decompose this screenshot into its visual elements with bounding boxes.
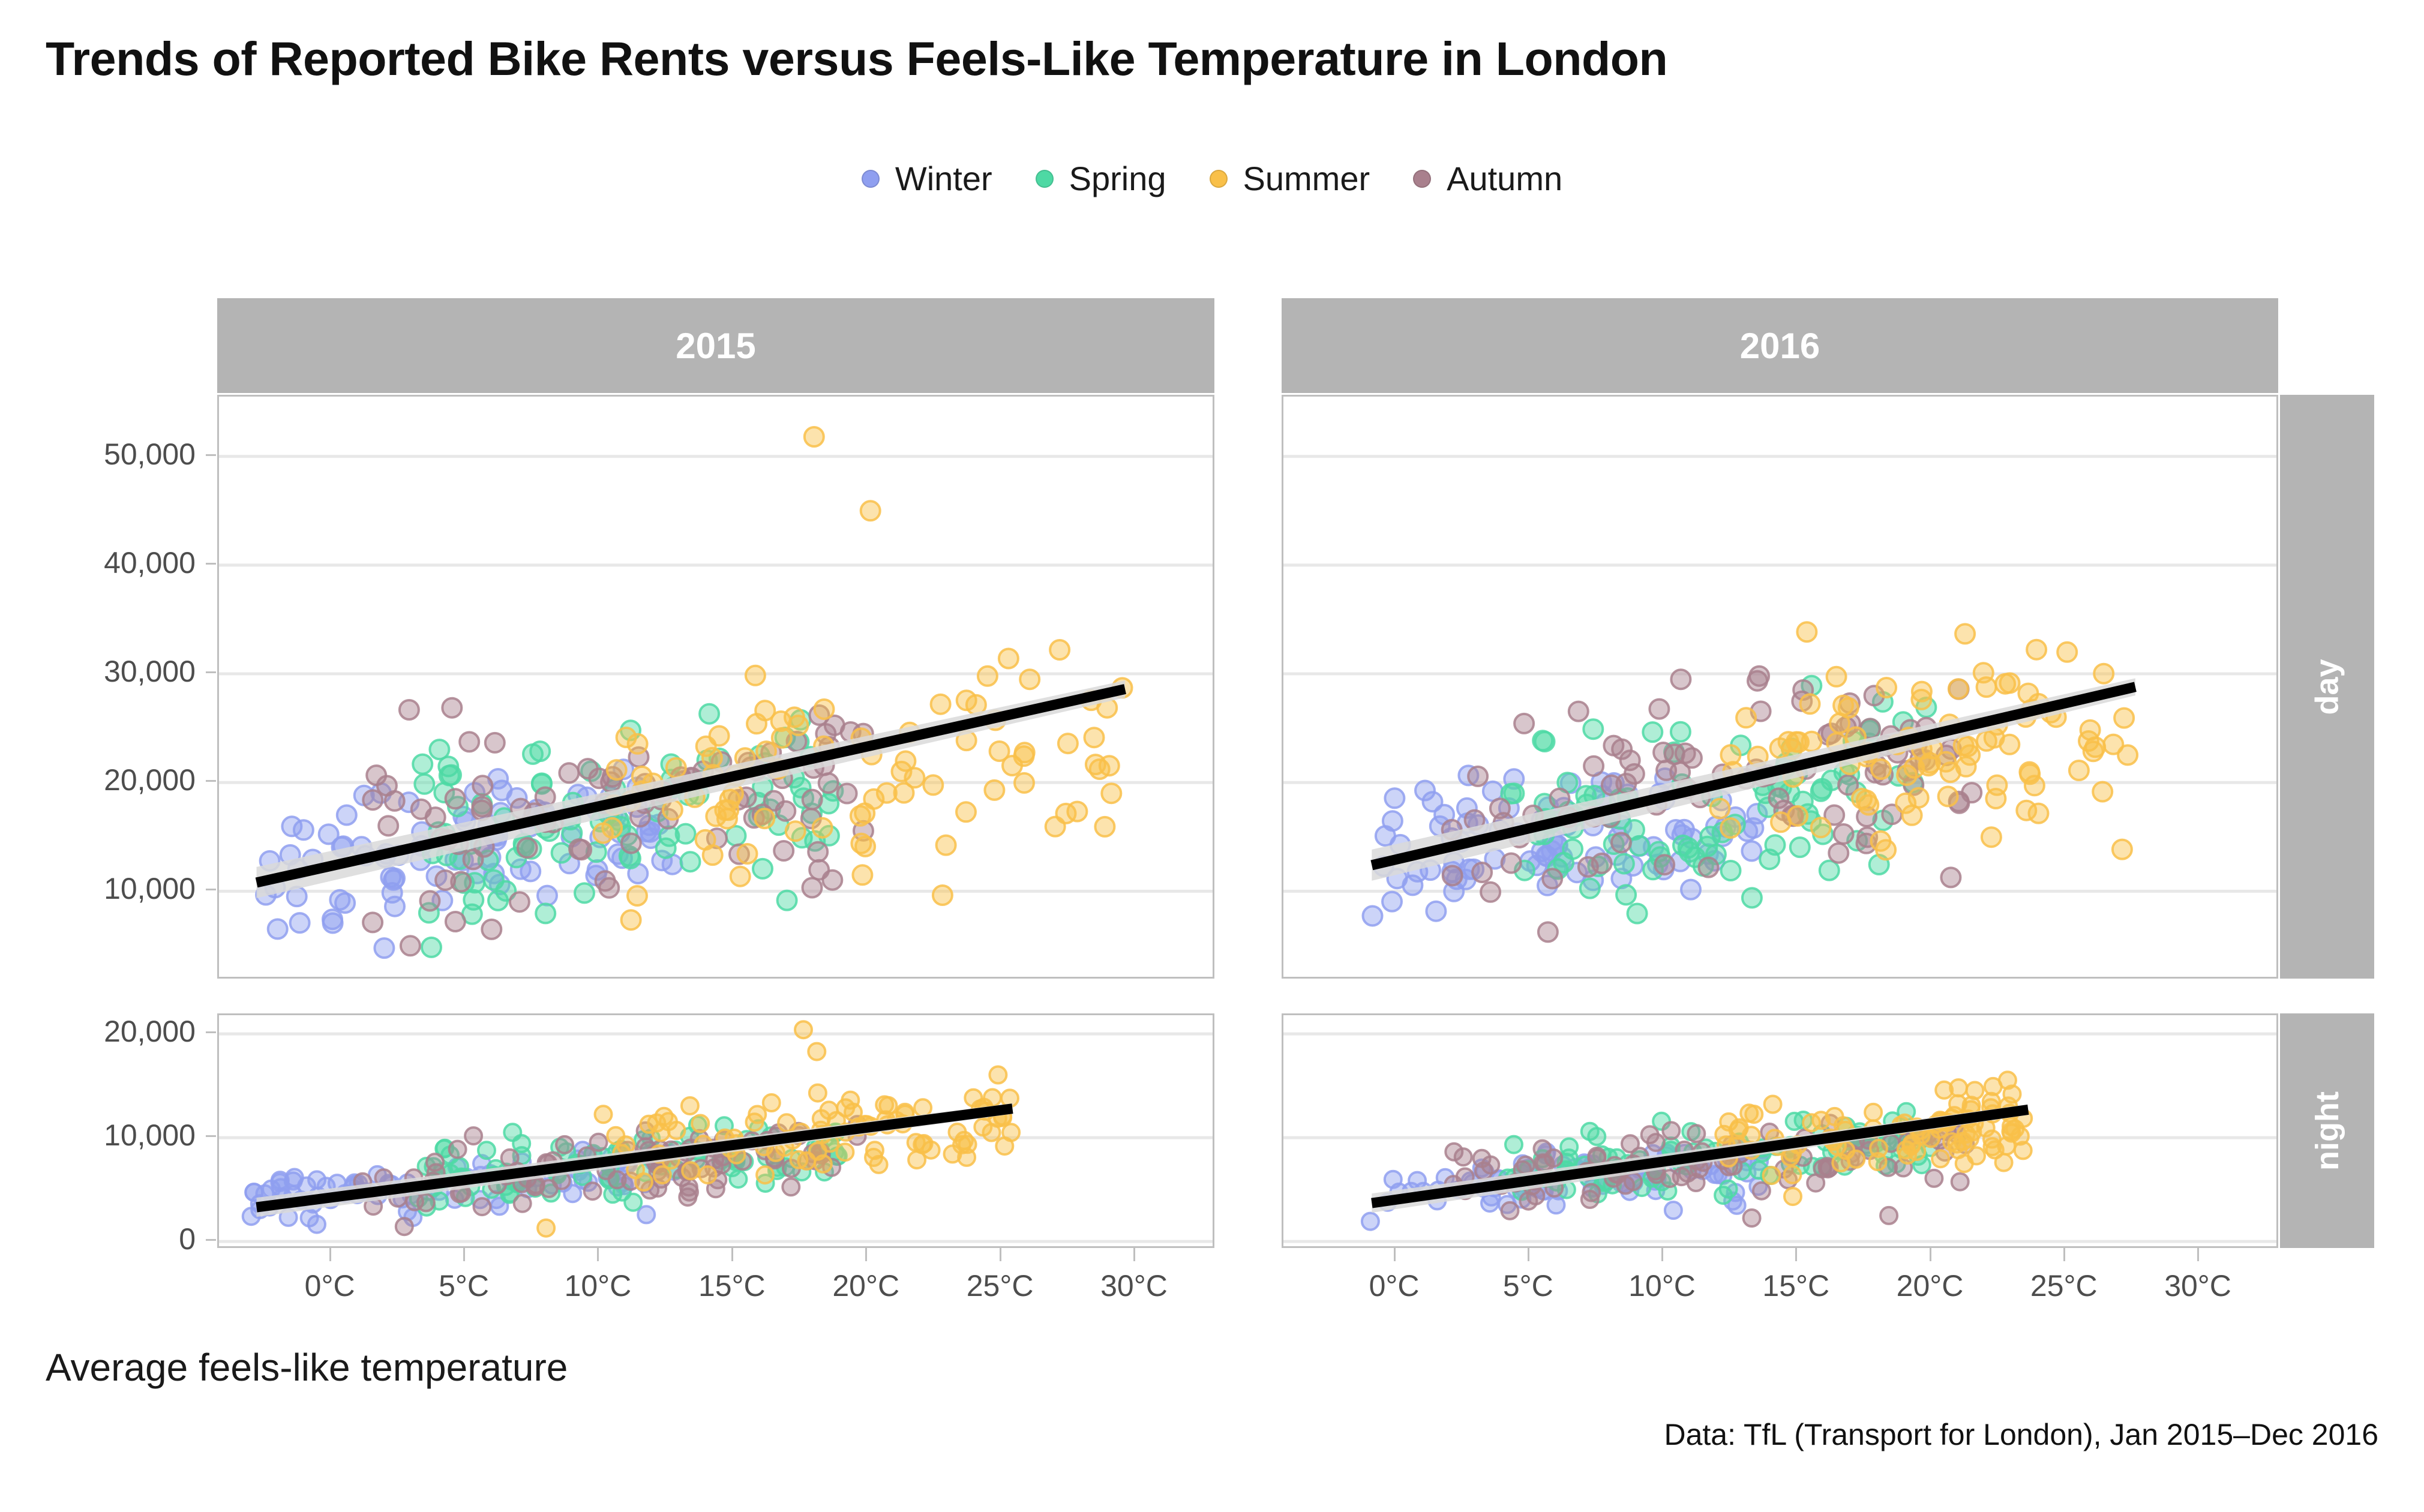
facet-strip-label-2016: 2016 (1740, 325, 1820, 367)
scatter-point (308, 1216, 325, 1233)
y-axis-tick-mark (206, 563, 216, 565)
scatter-point (628, 734, 647, 754)
scatter-point (1771, 812, 1790, 832)
scatter-point (514, 1195, 531, 1212)
scatter-point (1661, 1170, 1678, 1187)
scatter-point (809, 1085, 826, 1102)
scatter-point (2002, 1123, 2019, 1140)
scatter-point (1801, 694, 1820, 713)
scatter-point (1897, 766, 1916, 785)
scatter-point (1533, 731, 1552, 750)
scatter-point (1936, 752, 1955, 772)
y-axis-tick-label: 20,000 (0, 763, 196, 797)
scatter-point (896, 752, 915, 771)
scatter-point (1443, 866, 1462, 885)
scatter-point (1880, 1207, 1897, 1224)
scatter-point (808, 1043, 825, 1060)
scatter-point (1382, 892, 1402, 911)
x-axis-title: Average feels-like temperature (46, 1345, 568, 1390)
scatter-point (718, 809, 737, 829)
y-axis-tick-label: 10,000 (0, 1118, 196, 1153)
scatter-point (1859, 796, 1878, 815)
scatter-point (692, 1115, 709, 1132)
scatter-point (2114, 709, 2134, 728)
scatter-point (465, 1127, 482, 1144)
scatter-point (1827, 667, 1846, 686)
scatter-point (721, 790, 740, 809)
scatter-point (985, 781, 1004, 800)
scatter-point (421, 892, 440, 911)
scatter-point (485, 733, 505, 752)
scatter-point (1665, 1202, 1682, 1219)
scatter-point (1085, 728, 1104, 747)
scatter-point (590, 1134, 607, 1151)
scatter-point (427, 1154, 443, 1171)
scatter-point (700, 1166, 716, 1183)
scatter-point (1766, 835, 1785, 854)
y-axis-tick-label: 20,000 (0, 1014, 196, 1049)
scatter-point (1698, 837, 1717, 856)
scatter-point (956, 802, 976, 821)
scatter-point (1592, 854, 1612, 873)
scatter-point (778, 891, 797, 910)
scatter-point (747, 714, 766, 733)
scatter-point (1020, 670, 1039, 689)
x-axis-tick-mark (1000, 1248, 1001, 1261)
scatter-point (1383, 811, 1402, 830)
scatter-point (484, 871, 503, 890)
scatter-point (1502, 1202, 1519, 1219)
scatter-point (1742, 841, 1761, 860)
scatter-point (1765, 1096, 1781, 1113)
scatter-point (1671, 722, 1690, 742)
scatter-point (1876, 840, 1895, 859)
scatter-point (933, 886, 952, 905)
x-axis-tick-mark (865, 1248, 867, 1261)
scatter-point (1922, 1130, 1939, 1147)
x-axis-tick-mark (463, 1248, 465, 1261)
scatter-point (1688, 1125, 1705, 1142)
scatter-point (1621, 751, 1640, 770)
scatter-point (290, 913, 310, 932)
scatter-point (1721, 861, 1741, 880)
y-axis-tick-mark (206, 889, 216, 890)
scatter-point (790, 1151, 807, 1168)
scatter-svg (1283, 1015, 2278, 1248)
scatter-point (774, 841, 793, 860)
scatter-point (999, 649, 1018, 668)
scatter-point (1615, 854, 1634, 874)
scatter-point (1505, 1136, 1522, 1153)
scatter-point (589, 769, 608, 788)
scatter-point (1952, 1174, 1969, 1190)
scatter-point (819, 773, 838, 793)
scatter-point (510, 892, 529, 911)
facet-strip-2015: 2015 (217, 298, 1214, 393)
scatter-point (1699, 858, 1718, 877)
facet-strip-label-night: night (2308, 1091, 2345, 1171)
y-axis-tick-label: 0 (0, 1222, 196, 1256)
scatter-point (809, 860, 829, 880)
scatter-point (731, 867, 750, 886)
scatter-point (379, 816, 398, 835)
scatter-point (1688, 1174, 1705, 1191)
scatter-point (803, 878, 822, 898)
y-axis-tick-label: 40,000 (0, 545, 196, 580)
scatter-point (1941, 868, 1960, 887)
scatter-point (778, 1114, 795, 1131)
scatter-point (838, 784, 857, 803)
chart-caption: Data: TfL (Transport for London), Jan 20… (1664, 1417, 2378, 1452)
scatter-point (1616, 885, 1636, 904)
scatter-point (1898, 1141, 1915, 1158)
scatter-point (803, 790, 822, 809)
scatter-point (1715, 1187, 1732, 1204)
scatter-point (1102, 784, 1121, 803)
plot-area: 2015 2016 day night 10,00020,00030,00040… (0, 0, 2424, 1512)
scatter-point (473, 797, 492, 817)
scatter-point (1561, 1139, 1577, 1156)
scatter-point (572, 840, 591, 859)
scatter-point (1710, 799, 1729, 818)
x-axis-tick-label: 30°C (1068, 1268, 1200, 1303)
scatter-point (538, 886, 557, 905)
scatter-point (268, 919, 287, 938)
scatter-point (2027, 640, 2046, 659)
scatter-point (656, 839, 676, 858)
x-axis-tick-mark (1930, 1248, 1931, 1261)
scatter-point (482, 920, 501, 939)
facet-strip-night: night (2280, 1013, 2374, 1248)
scatter-point (895, 784, 914, 803)
scatter-point (385, 869, 404, 888)
scatter-point (446, 912, 465, 931)
x-axis-tick-mark (1133, 1248, 1135, 1261)
scatter-point (1807, 1175, 1824, 1192)
y-axis-tick-label: 30,000 (0, 654, 196, 689)
scatter-point (1015, 773, 1034, 793)
scatter-point (1769, 788, 1789, 808)
scatter-point (1455, 1148, 1472, 1165)
scatter-point (851, 834, 871, 853)
scatter-point (851, 806, 870, 826)
scatter-point (1582, 1123, 1598, 1140)
facet-strip-day: day (2280, 395, 2374, 979)
scatter-point (1834, 696, 1853, 715)
scatter-point (1580, 879, 1600, 898)
y-axis-tick-mark (206, 671, 216, 673)
scatter-point (518, 838, 537, 857)
chart-root: Trends of Reported Bike Rents versus Fee… (0, 0, 2424, 1512)
scatter-point (449, 1141, 466, 1158)
x-axis-tick-label: 0°C (1328, 1268, 1460, 1303)
scatter-point (805, 427, 824, 446)
scatter-point (813, 818, 832, 838)
scatter-point (396, 1218, 413, 1235)
scatter-point (1514, 714, 1534, 733)
scatter-point (401, 936, 420, 955)
scatter-point (700, 704, 719, 724)
scatter-point (446, 789, 465, 808)
scatter-point (2000, 673, 2020, 692)
scatter-point (1481, 883, 1500, 902)
scatter-point (703, 845, 722, 865)
scatter-point (1003, 756, 1022, 775)
scatter-point (559, 763, 578, 782)
scatter-point (596, 871, 615, 890)
scatter-point (622, 834, 641, 853)
y-axis-tick-mark (206, 454, 216, 456)
facet-strip-label-day: day (2309, 659, 2346, 715)
scatter-point (676, 824, 695, 844)
scatter-point (1046, 817, 1065, 836)
scatter-point (504, 1124, 521, 1141)
scatter-point (1950, 1079, 1967, 1096)
scatter-point (2118, 745, 2137, 764)
x-axis-tick-mark (597, 1248, 599, 1261)
scatter-point (1654, 743, 1673, 762)
x-axis-tick-mark (1394, 1248, 1396, 1261)
scatter-point (738, 844, 757, 863)
scatter-point (1472, 863, 1492, 882)
scatter-point (385, 897, 404, 916)
scatter-point (1912, 690, 1931, 709)
scatter-point (1987, 1141, 2003, 1158)
scatter-point (1584, 757, 1603, 776)
scatter-point (1925, 1170, 1942, 1187)
scatter-point (1363, 907, 1382, 926)
scatter-point (953, 1136, 970, 1153)
scatter-point (575, 883, 594, 902)
scatter-point (460, 732, 479, 751)
scatter-point (1955, 624, 1975, 643)
scatter-point (654, 1166, 671, 1183)
scatter-point (1095, 817, 1114, 836)
scatter-point (1939, 787, 1958, 806)
scatter-point (2069, 761, 2089, 780)
scatter-point (1784, 1188, 1801, 1205)
y-axis-tick-label: 50,000 (0, 437, 196, 472)
scatter-point (1583, 1184, 1600, 1201)
scatter-point (2015, 1142, 2032, 1159)
scatter-point (681, 852, 700, 871)
scatter-point (836, 1144, 853, 1160)
scatter-point (1877, 678, 1896, 697)
scatter-point (908, 1151, 925, 1168)
scatter-point (1538, 922, 1558, 941)
x-axis-tick-mark (2197, 1248, 2199, 1261)
scatter-point (788, 716, 808, 735)
scatter-point (1474, 1150, 1490, 1167)
scatter-point (1950, 1141, 1967, 1158)
scatter-point (2000, 735, 2019, 754)
x-axis-tick-mark (2063, 1248, 2065, 1261)
scatter-point (1058, 734, 1078, 753)
scatter-point (937, 836, 956, 855)
scatter-point (978, 667, 997, 686)
scatter-point (1763, 1167, 1780, 1184)
scatter-point (2057, 643, 2077, 662)
scatter-panel-2015-day (217, 395, 1214, 979)
scatter-point (974, 1118, 991, 1135)
scatter-point (1742, 888, 1762, 907)
scatter-point (1820, 861, 1839, 880)
scatter-point (2025, 776, 2044, 795)
scatter-svg (1283, 397, 2278, 979)
scatter-panel-2016-day (1282, 395, 2278, 979)
scatter-point (1811, 818, 1831, 837)
scatter-point (757, 1166, 773, 1183)
scatter-point (593, 824, 613, 843)
x-axis-tick-label: 25°C (934, 1268, 1066, 1303)
scatter-point (853, 865, 872, 884)
scatter-point (746, 1114, 763, 1130)
scatter-point (638, 1206, 655, 1223)
scatter-point (374, 938, 394, 958)
scatter-point (861, 501, 880, 520)
scatter-point (440, 766, 459, 785)
x-axis-tick-label: 15°C (1730, 1268, 1862, 1303)
scatter-point (1543, 869, 1562, 888)
scatter-svg (219, 1015, 1214, 1248)
scatter-point (377, 776, 397, 796)
y-axis-tick-mark (206, 1239, 216, 1241)
scatter-point (1829, 844, 1848, 863)
scatter-point (1385, 788, 1404, 808)
scatter-point (1550, 789, 1569, 808)
scatter-point (430, 740, 449, 759)
scatter-point (1612, 833, 1631, 852)
scatter-point (2094, 664, 2113, 683)
scatter-point (628, 886, 647, 905)
scatter-point (763, 1094, 780, 1111)
scatter-point (815, 700, 834, 719)
scatter-point (1753, 1183, 1770, 1199)
scatter-point (815, 1156, 832, 1172)
scatter-point (1502, 854, 1521, 873)
scatter-point (1588, 1148, 1605, 1165)
scatter-point (1870, 1140, 1887, 1157)
scatter-point (1797, 622, 1816, 641)
scatter-point (880, 1097, 896, 1114)
scatter-point (1663, 1122, 1679, 1139)
scatter-point (871, 1156, 887, 1173)
scatter-point (923, 775, 943, 794)
scatter-point (1385, 1171, 1402, 1188)
x-axis-tick-mark (329, 1248, 331, 1261)
scatter-point (536, 904, 555, 923)
scatter-point (1671, 670, 1690, 689)
scatter-point (1932, 1150, 1949, 1167)
scatter-point (931, 695, 950, 714)
scatter-point (436, 871, 455, 890)
scatter-point (412, 800, 431, 819)
scatter-point (1649, 700, 1669, 719)
scatter-point (584, 1183, 601, 1199)
scatter-point (755, 809, 774, 828)
scatter-point (400, 700, 419, 719)
scatter-point (2081, 721, 2100, 740)
x-axis-tick-label: 10°C (532, 1268, 664, 1303)
scatter-point (1790, 838, 1810, 857)
x-axis-tick-label: 5°C (398, 1268, 530, 1303)
scatter-svg (219, 397, 1214, 979)
scatter-point (478, 1142, 495, 1159)
scatter-point (635, 1174, 652, 1190)
scatter-point (1504, 784, 1523, 803)
scatter-point (335, 893, 355, 913)
scatter-point (842, 1092, 859, 1109)
trend-line (257, 1109, 1013, 1207)
scatter-point (2093, 782, 2112, 802)
x-axis-tick-label: 20°C (800, 1268, 932, 1303)
scatter-point (1583, 719, 1603, 739)
scatter-point (808, 842, 827, 862)
x-axis-tick-mark (1528, 1248, 1529, 1261)
scatter-panel-2015-night (217, 1013, 1214, 1248)
scatter-point (1426, 902, 1445, 921)
x-axis-tick-mark (1661, 1248, 1663, 1261)
scatter-point (772, 728, 791, 748)
scatter-point (764, 791, 784, 811)
scatter-point (2017, 801, 2036, 820)
scatter-point (697, 737, 716, 756)
scatter-point (607, 1127, 624, 1144)
scatter-point (1736, 708, 1756, 727)
scatter-point (527, 1178, 544, 1195)
scatter-panel-2016-night (1282, 1013, 2278, 1248)
y-axis-tick-mark (206, 780, 216, 782)
scatter-point (488, 891, 508, 910)
y-axis-tick-mark (206, 1031, 216, 1033)
scatter-point (1834, 824, 1853, 844)
scatter-point (795, 1021, 812, 1038)
scatter-point (1787, 733, 1806, 752)
x-axis-tick-label: 15°C (666, 1268, 798, 1303)
scatter-point (1569, 702, 1588, 721)
scatter-point (474, 1198, 491, 1215)
scatter-point (1648, 1134, 1664, 1151)
scatter-point (1968, 1147, 1985, 1164)
scatter-point (1655, 855, 1674, 874)
scatter-point (1415, 781, 1435, 800)
scatter-point (1362, 1213, 1379, 1230)
scatter-point (1982, 827, 2001, 847)
scatter-point (746, 666, 765, 685)
scatter-point (552, 844, 571, 863)
scatter-point (989, 1067, 1006, 1084)
scatter-point (1721, 745, 1740, 764)
scatter-point (1748, 671, 1767, 691)
scatter-point (622, 910, 641, 929)
x-axis-tick-label: 25°C (1998, 1268, 2130, 1303)
facet-strip-2016: 2016 (1282, 298, 2278, 393)
x-axis-tick-label: 0°C (264, 1268, 396, 1303)
scatter-point (1721, 818, 1740, 838)
scatter-point (363, 913, 382, 932)
scatter-point (1865, 1104, 1882, 1121)
scatter-point (1896, 794, 1915, 813)
scatter-point (1468, 767, 1487, 786)
scatter-point (1803, 1114, 1820, 1131)
scatter-point (1745, 1106, 1762, 1123)
scatter-point (1050, 640, 1069, 659)
y-axis-tick-label: 10,000 (0, 871, 196, 906)
scatter-point (413, 755, 432, 774)
scatter-point (1563, 839, 1582, 859)
facet-strip-label-2015: 2015 (676, 325, 755, 367)
scatter-point (667, 758, 686, 778)
